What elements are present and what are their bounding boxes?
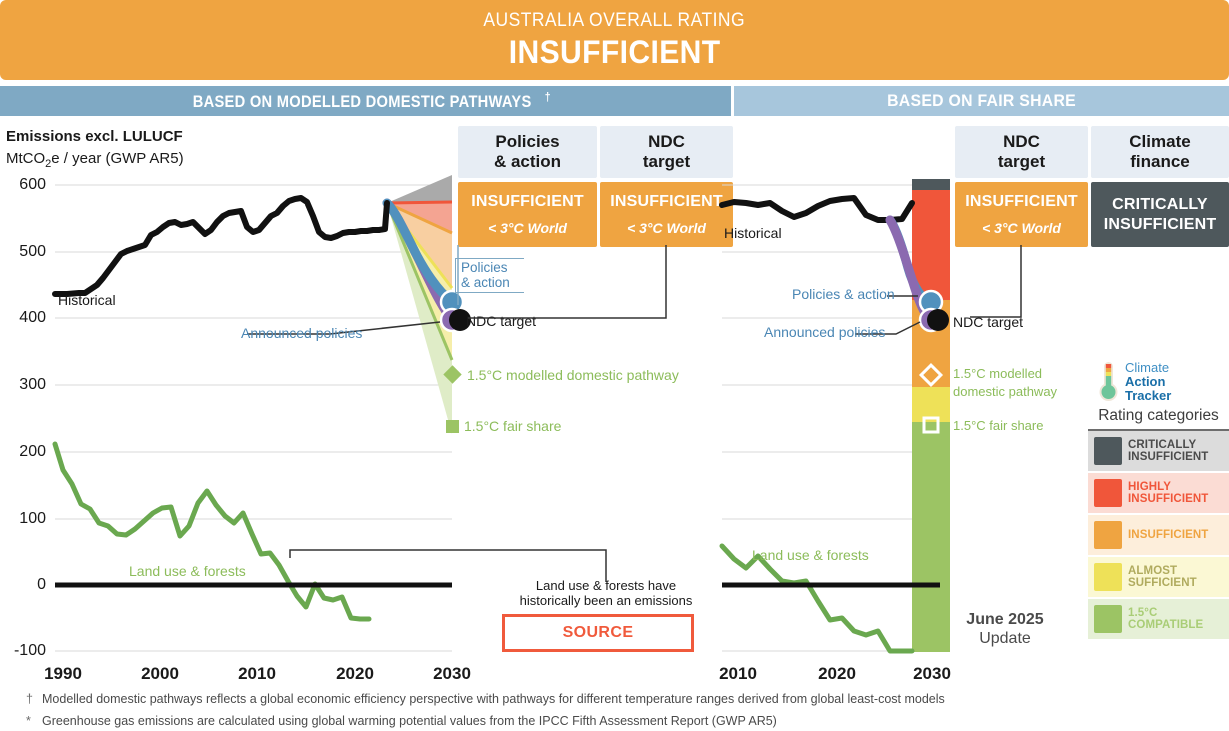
series-historical-left	[55, 198, 387, 294]
legend-label-1p5-compatible-line1: 1.5°C	[1128, 607, 1203, 619]
rating-ndc-target-domestic-world: < 3°C World	[627, 220, 706, 236]
update-date: June 2025 Update	[935, 610, 1075, 648]
legend-label-1p5-compatible: 1.5°C COMPATIBLE	[1128, 607, 1203, 631]
footnote-asterisk-mark: *	[26, 714, 42, 728]
logo-line-tracker: Tracker	[1125, 389, 1171, 403]
overall-rating-label: AUSTRALIA OVERALL RATING	[484, 10, 746, 32]
legend-label-insufficient-line1: INSUFFICIENT	[1128, 529, 1208, 541]
rating-connectors-left	[450, 245, 740, 325]
series-historical-right	[722, 198, 912, 220]
legend-row-1p5-compatible: 1.5°C COMPATIBLE	[1088, 599, 1229, 639]
legend-label-almost-sufficient-line2: SUFFICIENT	[1128, 577, 1197, 589]
label-1p5-fair-share-left: 1.5°C fair share	[464, 418, 561, 434]
column-header-climate-finance-line2: finance	[1130, 152, 1190, 172]
x-tick-right-2010: 2010	[708, 664, 768, 684]
axis-title: Emissions excl. LULUCF	[6, 128, 183, 145]
x-tick-2000: 2000	[130, 664, 190, 684]
x-tick-2010: 2010	[227, 664, 287, 684]
overall-rating-banner: AUSTRALIA OVERALL RATING INSUFFICIENT	[0, 0, 1229, 80]
dagger-icon: †	[545, 90, 551, 104]
legend-row-insufficient: INSUFFICIENT	[1088, 515, 1229, 555]
legend-label-critically-insufficient: CRITICALLY INSUFFICIENT	[1128, 439, 1208, 463]
source-note-line2: historically been an emissions	[497, 594, 715, 609]
column-header-ndc-target-domestic-line2: target	[643, 152, 690, 172]
label-land-use-forests-right: Land use & forests	[752, 547, 869, 563]
x-tick-right-2030: 2030	[902, 664, 962, 684]
label-historical-right: Historical	[724, 225, 782, 241]
legend-label-insufficient: INSUFFICIENT	[1128, 529, 1208, 541]
gridlines	[55, 185, 452, 651]
rating-ndc-target-fairshare-value: INSUFFICIENT	[965, 193, 1078, 211]
swatch-almost-sufficient	[1094, 563, 1122, 591]
label-1p5-fair-share-right: 1.5°C fair share	[953, 418, 1043, 433]
source-note-line1: Land use & forests have	[497, 579, 715, 594]
label-1p5-modelled-pathway-right-line2: domestic pathway	[953, 384, 1057, 399]
legend-label-critically-insufficient-line1: CRITICALLY	[1128, 439, 1208, 451]
rating-climate-finance-line2: INSUFFICIENT	[1104, 215, 1217, 234]
endpoint-ndc-target-right	[927, 309, 949, 331]
legend-label-almost-sufficient-line1: ALMOST	[1128, 565, 1197, 577]
label-1p5-modelled-pathway-left: 1.5°C modelled domestic pathway	[467, 367, 679, 383]
column-header-ndc-target-fairshare-line2: target	[998, 152, 1045, 172]
x-tick-2020: 2020	[325, 664, 385, 684]
rating-connectors-right	[950, 245, 1090, 325]
label-land-use-forests-left: Land use & forests	[129, 563, 246, 579]
column-header-ndc-target-domestic-line1: NDC	[648, 132, 685, 152]
footnote-dagger: †Modelled domestic pathways reflects a g…	[26, 692, 945, 706]
section-header-modelled-domestic-pathways: BASED ON MODELLED DOMESTIC PATHWAYS†	[0, 86, 731, 116]
series-land-use-forests-left	[55, 444, 369, 619]
rating-categories-panel: Climate Action Tracker Rating categories…	[1088, 360, 1229, 641]
rating-policies-action-value: INSUFFICIENT	[471, 193, 584, 211]
swatch-insufficient	[1094, 521, 1122, 549]
logo-line-action: Action	[1125, 375, 1171, 389]
legend-row-critically-insufficient: CRITICALLY INSUFFICIENT	[1088, 431, 1229, 471]
legend-row-highly-insufficient: HIGHLY INSUFFICIENT	[1088, 473, 1229, 513]
overall-rating-value: INSUFFICIENT	[509, 34, 721, 71]
x-tick-1990: 1990	[33, 664, 93, 684]
climate-action-tracker-logo: Climate Action Tracker	[1088, 360, 1229, 404]
legend-label-highly-insufficient: HIGHLY INSUFFICIENT	[1128, 481, 1208, 505]
footnote-asterisk-text: Greenhouse gas emissions are calculated …	[42, 714, 777, 728]
update-date-word: Update	[935, 629, 1075, 648]
bar-segment-critically-insufficient	[912, 179, 950, 190]
fair-share-bar	[912, 179, 950, 652]
swatch-highly-insufficient	[1094, 479, 1122, 507]
label-1p5-modelled-pathway-right-line1: 1.5°C modelled	[953, 366, 1042, 381]
x-tick-2030: 2030	[422, 664, 482, 684]
column-header-ndc-target-fairshare: NDC target	[955, 126, 1088, 178]
rating-ndc-target-fairshare: INSUFFICIENT < 3°C World	[955, 182, 1088, 247]
column-header-policies-action-line2: & action	[494, 152, 561, 172]
x-tick-right-2020: 2020	[807, 664, 867, 684]
thermometer-icon	[1098, 360, 1120, 404]
rating-climate-finance: CRITICALLY INSUFFICIENT	[1091, 182, 1229, 247]
footnote-dagger-text: Modelled domestic pathways reflects a gl…	[42, 692, 945, 706]
rating-ndc-target-fairshare-world: < 3°C World	[982, 220, 1061, 236]
rating-policies-action-world: < 3°C World	[488, 220, 567, 236]
legend-label-highly-insufficient-line1: HIGHLY	[1128, 481, 1208, 493]
legend-label-critically-insufficient-line2: INSUFFICIENT	[1128, 451, 1208, 463]
band-left-text: BASED ON MODELLED DOMESTIC PATHWAYS	[193, 92, 532, 112]
rating-categories-title: Rating categories	[1088, 404, 1229, 431]
update-date-month: June 2025	[935, 610, 1075, 629]
label-announced-policies-right: Announced policies	[764, 324, 885, 340]
label-policies-action-right: Policies & action	[792, 286, 895, 302]
legend-label-almost-sufficient: ALMOST SUFFICIENT	[1128, 565, 1197, 589]
column-header-policies-action: Policies & action	[458, 126, 597, 178]
source-badge-left: SOURCE	[502, 614, 694, 652]
label-announced-policies-left: Announced policies	[241, 325, 362, 341]
band-right-text: BASED ON FAIR SHARE	[887, 91, 1076, 111]
boundary-highly-insufficient	[387, 202, 452, 203]
swatch-critically-insufficient	[1094, 437, 1122, 465]
legend-label-1p5-compatible-line2: COMPATIBLE	[1128, 619, 1203, 631]
column-header-ndc-target-fairshare-line1: NDC	[1003, 132, 1040, 152]
rating-climate-finance-line1: CRITICALLY	[1112, 195, 1208, 214]
label-historical-left: Historical	[58, 292, 116, 308]
marker-1p5-fair-share-left	[446, 420, 459, 433]
swatch-1p5-compatible	[1094, 605, 1122, 633]
footnote-dagger-mark: †	[26, 692, 42, 706]
logo-wordmark: Climate Action Tracker	[1125, 361, 1171, 403]
column-header-climate-finance: Climate finance	[1091, 126, 1229, 178]
footnote-asterisk: *Greenhouse gas emissions are calculated…	[26, 714, 777, 728]
column-header-climate-finance-line1: Climate	[1129, 132, 1190, 152]
rating-policies-action: INSUFFICIENT < 3°C World	[458, 182, 597, 247]
legend-label-highly-insufficient-line2: INSUFFICIENT	[1128, 493, 1208, 505]
legend-row-almost-sufficient: ALMOST SUFFICIENT	[1088, 557, 1229, 597]
section-header-fair-share: BASED ON FAIR SHARE	[734, 86, 1229, 116]
band-critically-insufficient	[387, 175, 452, 203]
logo-line-climate: Climate	[1125, 361, 1171, 375]
source-note-left: Land use & forests have historically bee…	[497, 579, 715, 609]
column-header-policies-action-line1: Policies	[495, 132, 559, 152]
